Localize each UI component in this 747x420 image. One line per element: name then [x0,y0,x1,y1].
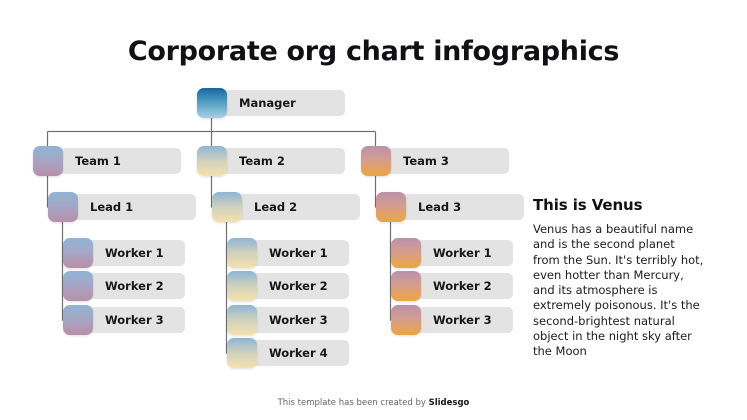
node-label: Worker 3 [269,307,328,333]
node-lead-3[interactable]: Lead 3 [376,194,524,220]
lead-chip-icon [48,192,78,222]
worker-chip-icon [63,271,93,301]
sidebar-heading: This is Venus [533,196,642,214]
node-label: Worker 2 [433,273,492,299]
node-worker-1-3[interactable]: Worker 3 [63,307,185,333]
footer-brand: Slidesgo [429,398,470,408]
node-label: Lead 1 [90,194,133,220]
team-chip-icon [197,146,227,176]
node-label: Team 1 [75,148,121,174]
node-worker-2-2[interactable]: Worker 2 [227,273,349,299]
worker-chip-icon [227,338,257,368]
node-label: Team 2 [239,148,285,174]
node-label: Lead 3 [418,194,461,220]
node-worker-1-1[interactable]: Worker 1 [63,240,185,266]
node-label: Worker 2 [269,273,328,299]
worker-chip-icon [227,305,257,335]
node-worker-3-2[interactable]: Worker 2 [391,273,513,299]
node-worker-1-2[interactable]: Worker 2 [63,273,185,299]
footer-prefix: This template has been created by [278,398,429,408]
node-label: Manager [239,90,296,116]
worker-chip-icon [227,238,257,268]
worker-chip-icon [63,238,93,268]
slide-canvas: Corporate org chart infographics [0,0,747,420]
node-team-1[interactable]: Team 1 [33,148,181,174]
worker-chip-icon [391,238,421,268]
team-chip-icon [361,146,391,176]
node-worker-2-4[interactable]: Worker 4 [227,340,349,366]
worker-chip-icon [63,305,93,335]
node-lead-1[interactable]: Lead 1 [48,194,196,220]
node-label: Worker 4 [269,340,328,366]
sidebar-body-text: Venus has a beautiful name and is the se… [533,222,705,360]
node-label: Team 3 [403,148,449,174]
manager-chip-icon [197,88,227,118]
node-label: Worker 1 [433,240,492,266]
worker-chip-icon [227,271,257,301]
node-label: Worker 3 [433,307,492,333]
team-chip-icon [33,146,63,176]
node-team-2[interactable]: Team 2 [197,148,345,174]
node-label: Worker 2 [105,273,164,299]
node-label: Worker 1 [269,240,328,266]
node-label: Worker 1 [105,240,164,266]
node-worker-3-3[interactable]: Worker 3 [391,307,513,333]
lead-chip-icon [376,192,406,222]
node-label: Lead 2 [254,194,297,220]
node-manager[interactable]: Manager [197,90,345,116]
worker-chip-icon [391,271,421,301]
node-lead-2[interactable]: Lead 2 [212,194,360,220]
lead-chip-icon [212,192,242,222]
node-worker-3-1[interactable]: Worker 1 [391,240,513,266]
footer-credit: This template has been created by Slides… [0,398,747,408]
node-team-3[interactable]: Team 3 [361,148,509,174]
node-worker-2-1[interactable]: Worker 1 [227,240,349,266]
node-worker-2-3[interactable]: Worker 3 [227,307,349,333]
worker-chip-icon [391,305,421,335]
node-label: Worker 3 [105,307,164,333]
